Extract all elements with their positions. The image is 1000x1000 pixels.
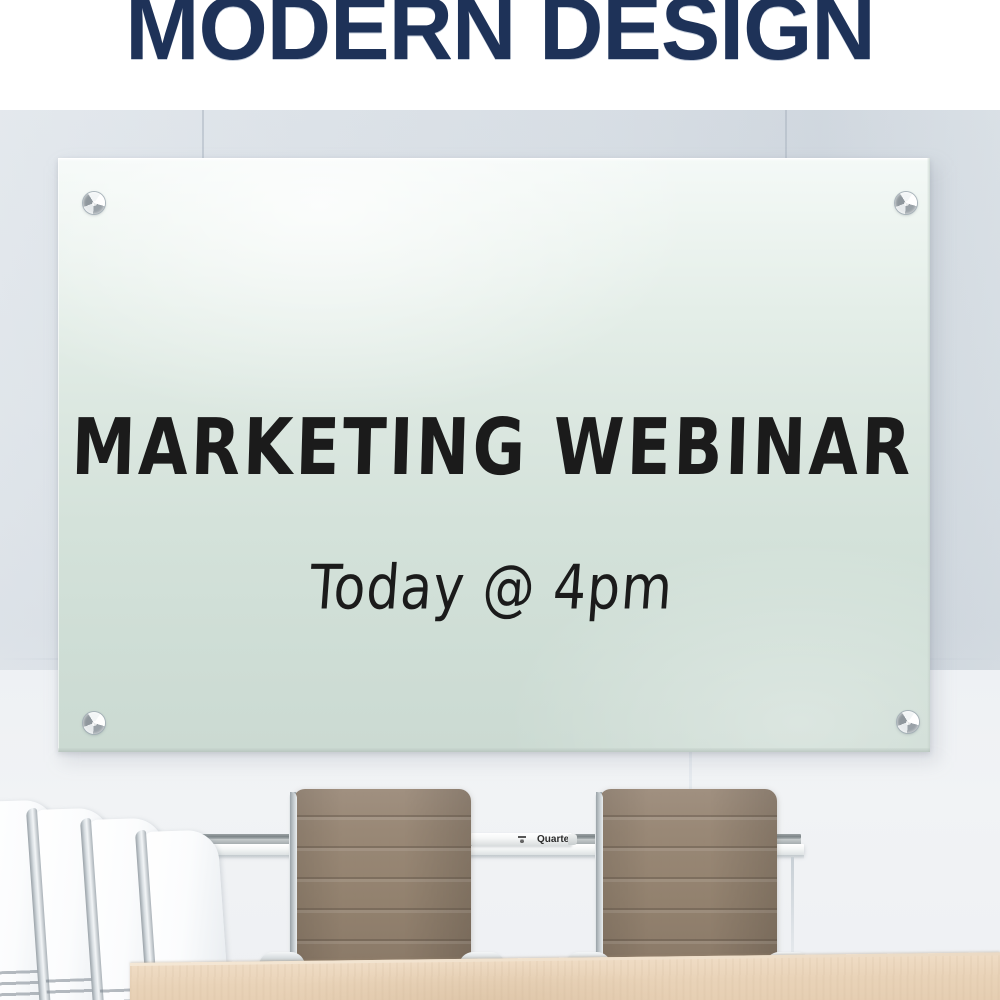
board-edge-bottom: [58, 748, 930, 752]
mount-bottom-left-icon: [83, 712, 105, 734]
glass-whiteboard: MARKETING WEBINAR Today @ 4pm: [58, 158, 930, 752]
mount-bottom-right-icon: [897, 711, 919, 733]
mount-top-right-icon: [895, 192, 917, 214]
chair-chrome-edge-right: [290, 792, 297, 978]
handwriting-line-2: Today @ 4pm: [53, 553, 930, 624]
board-edge-top: [58, 158, 930, 161]
quartet-logo-icon: [518, 836, 526, 843]
board-edge-right: [927, 158, 930, 752]
product-image-canvas: MODERN DESIGN MARKETING WEBINAR Today @ …: [0, 0, 1000, 1000]
marker-barrel: Quartet: [471, 833, 572, 846]
handwriting-line-1: MARKETING WEBINAR: [55, 403, 930, 493]
scene-photo: MARKETING WEBINAR Today @ 4pm Quartet: [0, 110, 1000, 1000]
chair-chrome-edge-right: [596, 792, 603, 978]
banner-bar: MODERN DESIGN: [0, 0, 1000, 110]
marker-end-cap: [568, 834, 577, 845]
handwriting-group: MARKETING WEBINAR Today @ 4pm: [58, 158, 930, 752]
banner-title: MODERN DESIGN: [5, 0, 995, 74]
conference-table: [0, 963, 1000, 1000]
mount-top-left-icon: [83, 192, 105, 214]
chair-backrest: [293, 789, 471, 981]
glass-reflection: [58, 158, 930, 752]
chair-backrest: [599, 789, 777, 981]
